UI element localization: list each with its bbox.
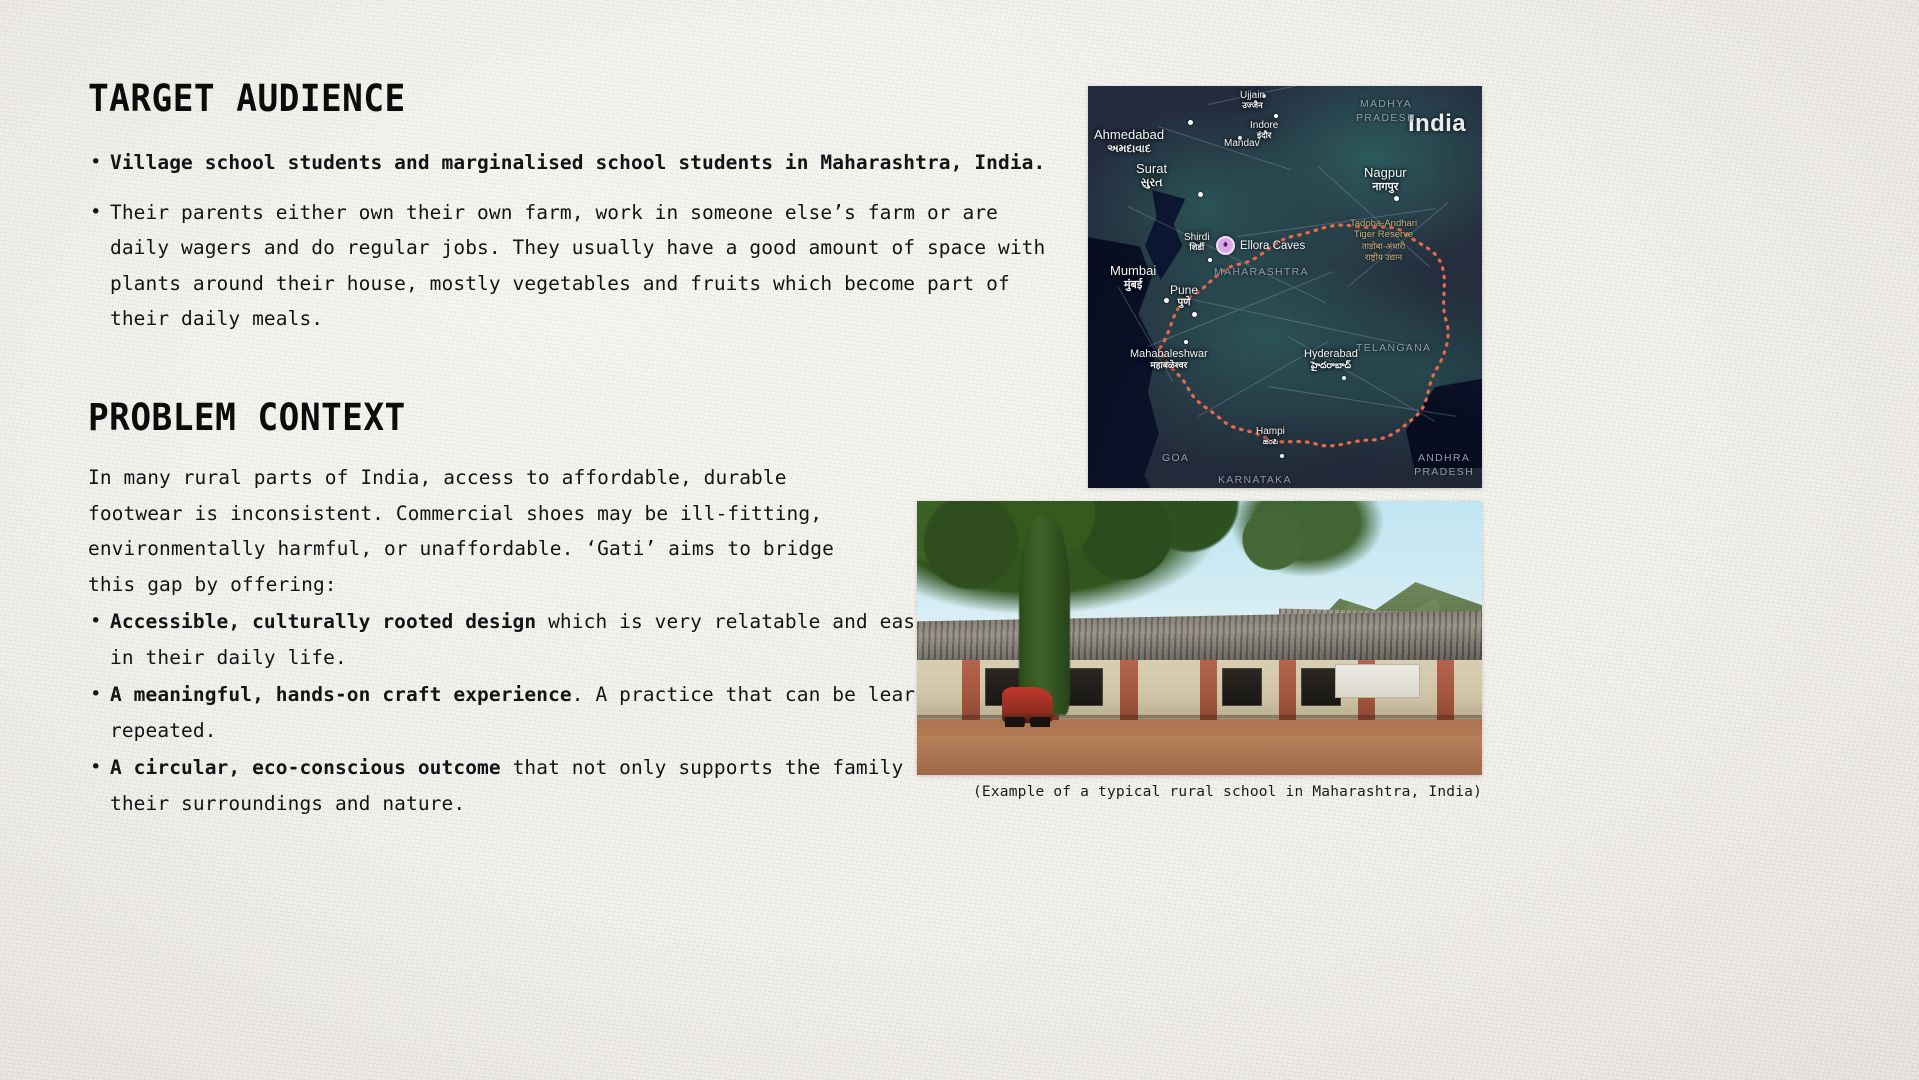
map-city-label-hyderabad: Hyderabad హైదరాబాద్ bbox=[1304, 348, 1358, 370]
map-city-label-nagpur: Nagpur नागपुर bbox=[1364, 166, 1407, 193]
map-city-label-pune: Pune पुणे bbox=[1170, 284, 1198, 309]
map-city-label-shirdi: Shirdi शिर्डी bbox=[1184, 232, 1210, 253]
map-city-dot-hyderabad bbox=[1342, 376, 1346, 380]
map-city-label-surat: Surat સુરત bbox=[1136, 162, 1167, 189]
map-city-label-mahabaleshwar: Mahabaleshwar महाबळेश्वर bbox=[1130, 348, 1208, 370]
maharashtra-map-image: India MADHYAPRADESH MAHARASHTRA TELANGAN… bbox=[1088, 86, 1482, 488]
map-city-label-mandav: Mandav bbox=[1224, 138, 1260, 149]
rural-school-photo bbox=[917, 501, 1482, 775]
map-city-dot-nagpur bbox=[1394, 196, 1399, 201]
right-media-column: India MADHYAPRADESH MAHARASHTRA TELANGAN… bbox=[1088, 86, 1482, 800]
bullet-bold-text: Accessible, culturally rooted design bbox=[110, 610, 536, 633]
monument-pin-icon: ♦ bbox=[1216, 236, 1235, 255]
map-city-label-mumbai: Mumbai मुंबई bbox=[1110, 264, 1156, 291]
list-item: Village school students and marginalised… bbox=[88, 145, 1063, 180]
map-region-madhya-pradesh: MADHYAPRADESH bbox=[1356, 98, 1416, 125]
target-audience-block: TARGET AUDIENCE Village school students … bbox=[88, 78, 1063, 337]
map-region-telangana: TELANGANA bbox=[1356, 342, 1431, 355]
map-region-maharashtra: MAHARASHTRA bbox=[1214, 266, 1309, 279]
photo-tree-trunk bbox=[1019, 517, 1070, 714]
photo-ground bbox=[917, 720, 1482, 775]
map-country-label: India bbox=[1408, 110, 1466, 138]
bullet-bold-text: A circular, eco-conscious outcome bbox=[110, 756, 501, 779]
map-city-dot-mumbai bbox=[1164, 298, 1169, 303]
map-city-dot-shirdi bbox=[1208, 258, 1212, 262]
map-city-dot-surat bbox=[1198, 192, 1203, 197]
slide-canvas: TARGET AUDIENCE Village school students … bbox=[0, 0, 1919, 1080]
problem-context-paragraph: In many rural parts of India, access to … bbox=[88, 460, 888, 602]
map-park-tadoba: Tadoba-AndhariTiger Reserve ताडोबा-अंधार… bbox=[1350, 218, 1417, 264]
map-region-andhra-pradesh: ANDHRAPRADESH bbox=[1414, 452, 1474, 479]
photo-tree-right bbox=[1222, 501, 1392, 583]
map-poi-ellora-caves[interactable]: ♦ Ellora Caves bbox=[1216, 236, 1305, 255]
target-audience-heading: TARGET AUDIENCE bbox=[88, 78, 995, 119]
bullet-bold-text: Village school students and marginalised… bbox=[110, 151, 1045, 174]
map-park-label-latin: Tadoba-AndhariTiger Reserve bbox=[1350, 218, 1417, 240]
photo-tree-canopy bbox=[917, 501, 1245, 627]
map-city-dot-mahabaleshwar bbox=[1184, 340, 1188, 344]
list-item: Their parents either own their own farm,… bbox=[88, 195, 1063, 337]
problem-context-heading: PROBLEM CONTEXT bbox=[88, 397, 995, 438]
map-park-label-native: ताडोबा-अंधारीराष्ट्रीय उद्यान bbox=[1362, 241, 1405, 262]
map-region-karnataka: KARNATAKA bbox=[1218, 474, 1292, 487]
map-city-dot-ahmedabad bbox=[1188, 120, 1193, 125]
map-city-label-ahmedabad: Ahmedabad અમદાવાદ bbox=[1094, 128, 1164, 155]
map-city-label-ujjain: Ujjain उज्जैन bbox=[1240, 90, 1265, 111]
target-audience-bullet-list: Village school students and marginalised… bbox=[88, 145, 1063, 336]
bullet-bold-text: A meaningful, hands-on craft experience bbox=[110, 683, 572, 706]
photo-caption: (Example of a typical rural school in Ma… bbox=[917, 784, 1482, 800]
map-city-dot-hampi bbox=[1280, 454, 1284, 458]
photo-red-scooter bbox=[1002, 687, 1053, 723]
bullet-regular-text: Their parents either own their own farm,… bbox=[110, 201, 1045, 330]
map-city-label-hampi: Hampi ಹಂಪಿ bbox=[1256, 426, 1285, 447]
map-city-dot-indore bbox=[1274, 114, 1278, 118]
map-poi-label: Ellora Caves bbox=[1240, 240, 1305, 252]
map-region-goa: GOA bbox=[1162, 452, 1189, 465]
map-city-dot-pune bbox=[1192, 312, 1197, 317]
